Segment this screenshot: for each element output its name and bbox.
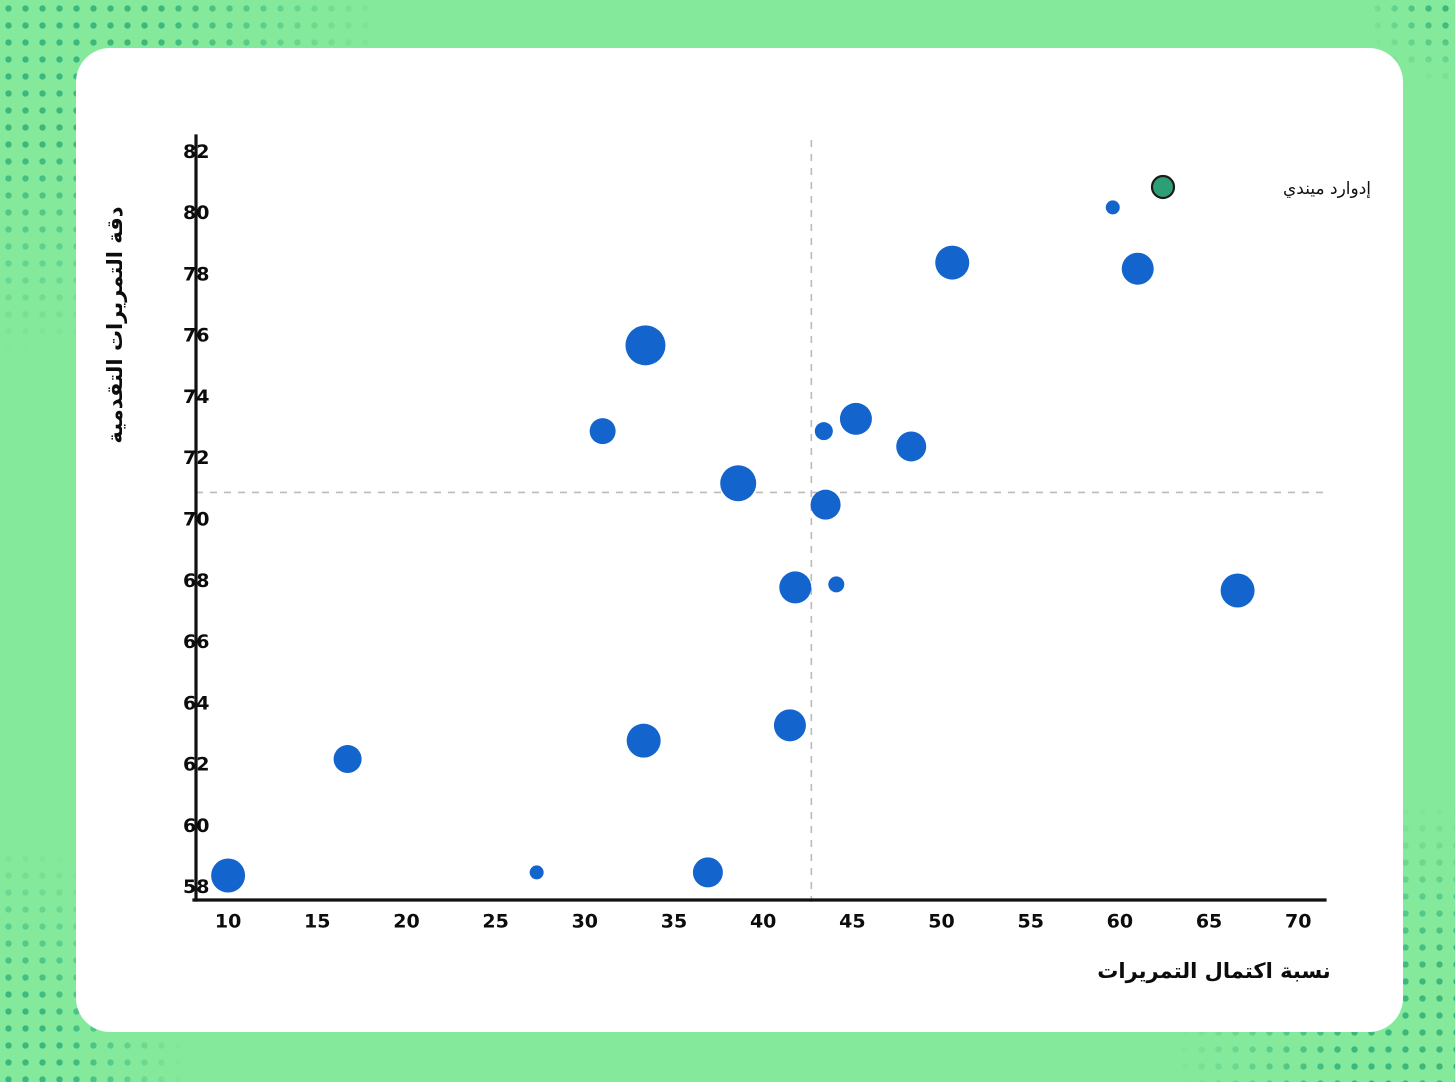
highlighted-player-label: إدوارد ميندي xyxy=(1283,179,1371,199)
x-axis-tick-label: 65 xyxy=(1196,911,1222,933)
scatter-chart: 58606264666870727476788082 1015202530354… xyxy=(0,0,1455,1082)
data-point-bubble[interactable] xyxy=(590,418,616,444)
data-point-bubble[interactable] xyxy=(896,431,926,461)
x-axis-ticks-group: 10152025303540455055606570 xyxy=(215,911,1312,933)
data-point-bubble[interactable] xyxy=(811,490,841,520)
y-axis-tick-label: 78 xyxy=(183,263,209,285)
y-axis-tick-label: 72 xyxy=(183,447,209,469)
y-axis-title: دقة التمريرات التقدمية xyxy=(103,206,127,443)
data-point-bubble[interactable] xyxy=(625,325,665,365)
data-point-bubble[interactable] xyxy=(334,745,362,773)
data-point-bubble[interactable] xyxy=(774,709,806,741)
x-axis-tick-label: 20 xyxy=(393,911,419,933)
y-axis-tick-label: 74 xyxy=(183,386,209,408)
y-axis-tick-label: 68 xyxy=(183,570,209,592)
data-point-bubble[interactable] xyxy=(935,246,969,280)
reference-lines-group xyxy=(196,140,1325,902)
x-axis-tick-label: 60 xyxy=(1107,911,1133,933)
x-axis-tick-label: 10 xyxy=(215,911,241,933)
data-point-bubble[interactable] xyxy=(779,571,811,603)
axes-group xyxy=(194,136,1325,900)
x-axis-title: نسبة اكتمال التمريرات xyxy=(1097,959,1330,983)
y-axis-tick-label: 76 xyxy=(183,325,209,347)
data-point-bubble[interactable] xyxy=(211,858,245,892)
data-point-bubble[interactable] xyxy=(828,576,844,592)
x-axis-tick-label: 45 xyxy=(839,911,865,933)
y-axis-tick-label: 66 xyxy=(183,631,209,653)
x-axis-tick-label: 70 xyxy=(1285,911,1311,933)
data-points-group xyxy=(211,200,1255,892)
x-axis-tick-label: 30 xyxy=(572,911,598,933)
x-axis-tick-label: 15 xyxy=(304,911,330,933)
y-axis-tick-label: 82 xyxy=(183,141,209,163)
x-axis-tick-label: 25 xyxy=(482,911,508,933)
data-point-bubble[interactable] xyxy=(693,857,723,887)
y-axis-tick-label: 60 xyxy=(183,815,209,837)
data-point-bubble[interactable] xyxy=(1122,253,1154,285)
x-axis-tick-label: 55 xyxy=(1017,911,1043,933)
data-point-bubble[interactable] xyxy=(530,865,544,879)
y-axis-tick-label: 80 xyxy=(183,202,209,224)
data-point-bubble[interactable] xyxy=(720,465,756,501)
annotations-group: إدوارد ميندي xyxy=(1152,176,1371,199)
y-axis-tick-label: 62 xyxy=(183,754,209,776)
scatter-plot-canvas: 58606264666870727476788082 1015202530354… xyxy=(0,0,1455,1082)
y-axis-tick-label: 58 xyxy=(183,876,209,898)
x-axis-tick-label: 50 xyxy=(928,911,954,933)
highlighted-player-marker[interactable] xyxy=(1152,176,1174,198)
y-axis-tick-label: 64 xyxy=(183,692,209,714)
data-point-bubble[interactable] xyxy=(1106,200,1120,214)
x-axis-tick-label: 35 xyxy=(661,911,687,933)
data-point-bubble[interactable] xyxy=(1221,573,1255,607)
data-point-bubble[interactable] xyxy=(840,403,872,435)
data-point-bubble[interactable] xyxy=(815,422,833,440)
data-point-bubble[interactable] xyxy=(627,724,661,758)
y-axis-tick-label: 70 xyxy=(183,509,209,531)
x-axis-tick-label: 40 xyxy=(750,911,776,933)
